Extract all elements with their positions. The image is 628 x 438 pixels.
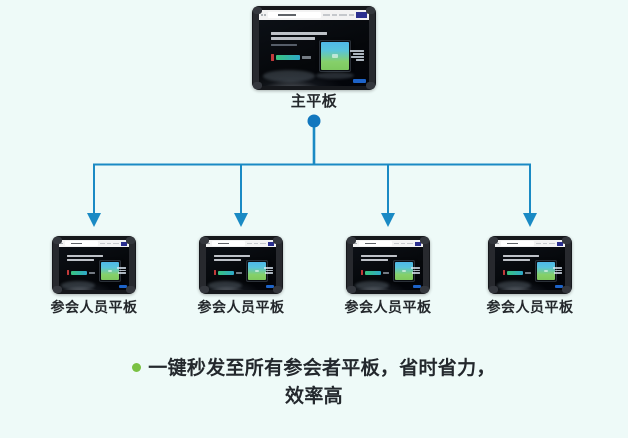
attendee-tablet-4[interactable] [488,236,572,294]
attendee-tablet-screen [495,240,565,290]
attendee-page-content [206,247,276,290]
browser-address-bar[interactable] [268,12,321,18]
page-headline [361,255,397,261]
attendee-tablet-screen [353,240,423,290]
attendee-tablet-1-label: 参会人员平板 [24,297,164,317]
browser-tab-strip[interactable] [247,243,266,245]
bumper-top-right [273,237,282,244]
browser-tab-strip[interactable] [323,14,354,16]
bumper-top-left [253,7,262,14]
browser-address-bar[interactable] [65,241,99,245]
bumper-bottom-right [366,82,375,89]
bumper-top-left [53,237,62,244]
bumper-top-right [562,237,571,244]
hero-floor-glow [263,70,315,82]
browser-nav-dots [261,14,266,16]
bumper-top-left [347,237,356,244]
attendee-tablet-1[interactable] [52,236,136,294]
browser-account-badge[interactable] [356,12,367,18]
browser-tab-strip[interactable] [536,243,555,245]
hero-device-shadow [316,72,354,79]
page-headline [214,255,250,261]
attendee-tablet-screen [206,240,276,290]
attendee-tablet-3-label: 参会人员平板 [318,297,458,317]
bumper-top-right [126,237,135,244]
bumper-bottom-left [200,286,209,293]
main-tablet-page-content [259,20,369,86]
bumper-top-right [420,237,429,244]
caption-line-2: 效率高 [34,383,594,411]
bumper-bottom-left [347,286,356,293]
bumper-bottom-left [489,286,498,293]
bumper-top-left [200,237,209,244]
hero-device-image [319,40,351,72]
attendee-tablet-2-label: 参会人员平板 [171,297,311,317]
page-side-panel [553,267,562,274]
bullet-dot-icon [132,363,141,372]
browser-chrome-bar [59,240,129,247]
bumper-bottom-right [420,286,429,293]
page-cta-row[interactable] [503,270,531,275]
bumper-bottom-left [253,82,262,89]
hero-device-wallpaper [321,42,349,70]
page-cta-row[interactable] [214,270,242,275]
page-headline [503,255,539,261]
page-side-panel [350,50,364,61]
caption-line-1: 一键秒发至所有参会者平板，省时省力， [148,358,495,379]
browser-tab-strip[interactable] [394,243,413,245]
hero-floor-glow [497,281,531,290]
main-tablet[interactable] [252,6,376,90]
hero-floor-glow [208,281,242,290]
bumper-bottom-right [562,286,571,293]
hero-floor-glow [355,281,389,290]
attendee-tablet-2[interactable] [199,236,283,294]
bumper-top-left [489,237,498,244]
page-cta-row[interactable] [67,270,95,275]
page-cta-row[interactable] [361,270,389,275]
browser-chrome-bar [353,240,423,247]
arrowhead-3 [381,213,395,227]
page-side-panel [117,267,126,274]
attendee-page-content [495,247,565,290]
attendee-tablet-3[interactable] [346,236,430,294]
arrowhead-1 [87,213,101,227]
bumper-bottom-right [126,286,135,293]
hero-floor-glow [61,281,95,290]
attendee-tablet-4-label: 参会人员平板 [460,297,600,317]
page-side-panel [411,267,420,274]
browser-chrome-bar [259,10,369,20]
page-corner-tag [353,79,366,83]
browser-address-bar[interactable] [359,241,393,245]
root-node-dot [308,115,321,128]
page-side-panel [264,267,273,274]
main-tablet-label: 主平板 [252,90,376,111]
browser-tab-strip[interactable] [100,243,119,245]
browser-address-bar[interactable] [212,241,246,245]
bumper-top-right [366,7,375,14]
attendee-page-content [59,247,129,290]
bumper-bottom-left [53,286,62,293]
page-headline [67,255,103,261]
attendee-page-content [353,247,423,290]
browser-chrome-bar [206,240,276,247]
arrowhead-2 [234,213,248,227]
arrowhead-4 [523,213,537,227]
browser-address-bar[interactable] [501,241,535,245]
feature-caption: 一键秒发至所有参会者平板，省时省力， 效率高 [0,355,628,410]
page-cta-row[interactable] [271,54,311,61]
main-tablet-screen [259,10,369,86]
browser-chrome-bar [495,240,565,247]
bumper-bottom-right [273,286,282,293]
attendee-tablet-screen [59,240,129,290]
